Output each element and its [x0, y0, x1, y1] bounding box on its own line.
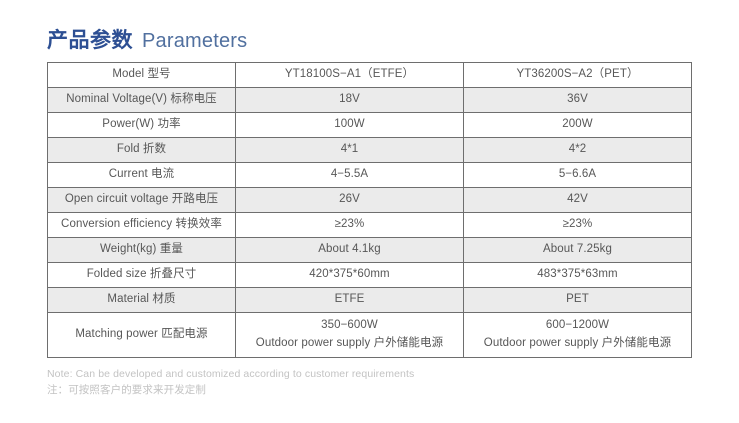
row-value-a-nominal-voltage: 18V: [236, 88, 464, 113]
matching-power-b-line2: Outdoor power supply 户外储能电源: [466, 336, 689, 352]
page-title-cn: 产品参数: [47, 24, 133, 54]
table-row: Current 电流 4−5.5A 5−6.6A: [48, 163, 692, 188]
row-value-b-current: 5−6.6A: [464, 163, 692, 188]
page-title-en: Parameters: [142, 30, 247, 53]
row-label-power: Power(W) 功率: [48, 113, 236, 138]
row-value-b-matching-power: 600−1200W Outdoor power supply 户外储能电源: [464, 313, 692, 358]
row-value-b-weight: About 7.25kg: [464, 238, 692, 263]
table-row: Nominal Voltage(V) 标称电压 18V 36V: [48, 88, 692, 113]
row-label-open-circuit-voltage: Open circuit voltage 开路电压: [48, 188, 236, 213]
row-label-matching-power: Matching power 匹配电源: [48, 313, 236, 358]
parameters-page: 产品参数 Parameters Model 型号 YT18100S−A1（ETF…: [0, 0, 739, 423]
row-label-nominal-voltage: Nominal Voltage(V) 标称电压: [48, 88, 236, 113]
row-label-material: Material 材质: [48, 288, 236, 313]
row-value-a-power: 100W: [236, 113, 464, 138]
table-row: Model 型号 YT18100S−A1（ETFE） YT36200S−A2（P…: [48, 63, 692, 88]
specification-table: Model 型号 YT18100S−A1（ETFE） YT36200S−A2（P…: [47, 62, 692, 358]
matching-power-a-line1: 350−600W: [238, 318, 461, 334]
row-value-a-model: YT18100S−A1（ETFE）: [236, 63, 464, 88]
footer-note-en: Note: Can be developed and customized ac…: [47, 366, 414, 382]
row-value-b-model: YT36200S−A2（PET）: [464, 63, 692, 88]
page-title: 产品参数 Parameters: [47, 24, 247, 54]
table-row: Material 材质 ETFE PET: [48, 288, 692, 313]
table-row: Folded size 折叠尺寸 420*375*60mm 483*375*63…: [48, 263, 692, 288]
row-value-a-weight: About 4.1kg: [236, 238, 464, 263]
table-row: Power(W) 功率 100W 200W: [48, 113, 692, 138]
row-value-a-material: ETFE: [236, 288, 464, 313]
row-value-b-folded-size: 483*375*63mm: [464, 263, 692, 288]
row-value-b-conversion-efficiency: ≥23%: [464, 213, 692, 238]
row-label-weight: Weight(kg) 重量: [48, 238, 236, 263]
row-label-fold: Fold 折数: [48, 138, 236, 163]
row-value-a-matching-power: 350−600W Outdoor power supply 户外储能电源: [236, 313, 464, 358]
row-value-a-fold: 4*1: [236, 138, 464, 163]
row-value-b-fold: 4*2: [464, 138, 692, 163]
row-value-a-open-circuit-voltage: 26V: [236, 188, 464, 213]
row-value-a-folded-size: 420*375*60mm: [236, 263, 464, 288]
row-value-a-current: 4−5.5A: [236, 163, 464, 188]
row-value-b-nominal-voltage: 36V: [464, 88, 692, 113]
table-row: Conversion efficiency 转换效率 ≥23% ≥23%: [48, 213, 692, 238]
table-row: Weight(kg) 重量 About 4.1kg About 7.25kg: [48, 238, 692, 263]
row-label-current: Current 电流: [48, 163, 236, 188]
matching-power-b-line1: 600−1200W: [466, 318, 689, 334]
row-value-b-power: 200W: [464, 113, 692, 138]
row-label-model: Model 型号: [48, 63, 236, 88]
row-value-b-open-circuit-voltage: 42V: [464, 188, 692, 213]
row-label-folded-size: Folded size 折叠尺寸: [48, 263, 236, 288]
table-row: Open circuit voltage 开路电压 26V 42V: [48, 188, 692, 213]
table-row: Matching power 匹配电源 350−600W Outdoor pow…: [48, 313, 692, 358]
row-value-b-material: PET: [464, 288, 692, 313]
table-row: Fold 折数 4*1 4*2: [48, 138, 692, 163]
row-value-a-conversion-efficiency: ≥23%: [236, 213, 464, 238]
row-label-conversion-efficiency: Conversion efficiency 转换效率: [48, 213, 236, 238]
footer-note: Note: Can be developed and customized ac…: [47, 366, 414, 399]
matching-power-a-line2: Outdoor power supply 户外储能电源: [238, 336, 461, 352]
footer-note-cn: 注：可按照客户的要求来开发定制: [47, 382, 414, 398]
